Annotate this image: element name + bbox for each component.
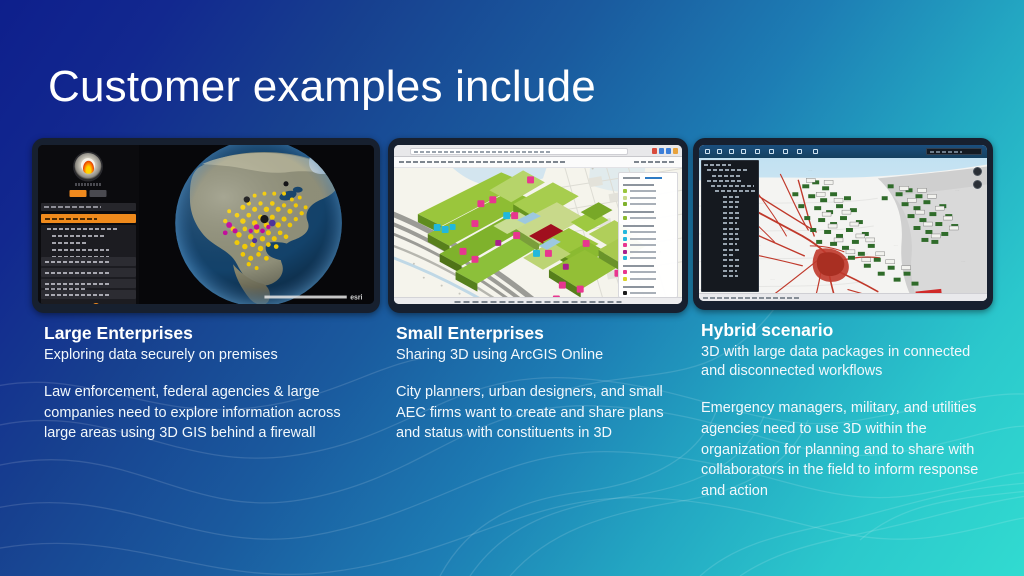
svg-text:esri: esri [350,294,362,301]
legend-item [623,202,673,206]
panel-section-list[interactable] [41,257,136,301]
globe-viewer-sidebar[interactable] [38,145,139,304]
search-input[interactable] [926,148,982,155]
legend-swatch [623,230,627,234]
layer-row[interactable] [52,242,88,244]
legend-item [623,270,673,274]
tree-layer-node[interactable] [712,175,741,177]
tab-layers[interactable] [623,177,640,179]
legend-item [623,230,673,234]
legend-swatch [623,196,627,200]
column-large-enterprises: esri Large Enterprises Exploring data se… [32,138,380,444]
tree-leaf-node[interactable] [723,206,738,208]
toggle-button-inactive[interactable] [90,190,107,197]
legend-item [623,291,673,295]
pointer-tool-icon[interactable] [705,149,710,154]
card-body: City planners, urban designers, and smal… [396,382,680,444]
measure-tool-icon[interactable] [717,149,722,154]
legend-swatch [623,250,627,254]
sidebar-toggle-buttons[interactable] [70,190,107,197]
slide-canvas: Customer examples include [0,0,1024,576]
map-zoom-control[interactable] [973,167,982,176]
legend-swatch [623,256,627,260]
tree-leaf-node[interactable] [723,201,740,203]
legend-section-heading [623,184,654,186]
tree-leaf-node[interactable] [723,228,740,230]
layer-tree-panel[interactable] [701,160,759,292]
card-body: Emergency managers, military, and utilit… [701,398,985,501]
tree-group-node[interactable] [707,180,741,182]
logo-caption [75,183,101,186]
tab-legend-active[interactable] [645,177,662,179]
svg-text:.....: ..... [955,187,959,191]
legend-tabs[interactable] [623,177,673,179]
browser-extension-icons[interactable] [652,148,678,154]
legend-item [623,256,673,260]
text-block-large-enterprises: Large Enterprises Exploring data securel… [32,313,380,444]
extension-icon[interactable] [673,148,678,154]
tree-leaf-node[interactable] [723,238,739,240]
legend-item [623,250,673,254]
tree-leaf-node[interactable] [723,275,738,277]
legend-label [630,292,656,294]
legend-section-heading [623,225,654,227]
legend-swatch [623,237,627,241]
tree-layer-node[interactable] [711,185,754,187]
extension-icon[interactable] [659,148,664,154]
legend-label [630,238,656,240]
map-compass-control[interactable] [973,180,982,189]
tree-leaf-node[interactable] [723,222,737,224]
legend-swatch [623,270,627,274]
tree-leaf-node[interactable] [723,270,737,272]
legend-section-heading [623,286,654,288]
pencil-tool-icon[interactable] [729,149,734,154]
layer-row[interactable] [52,249,109,251]
toggle-button-active[interactable] [70,190,87,197]
card-title: Large Enterprises [44,323,372,343]
text-block-small-enterprises: Small Enterprises Sharing 3D using ArcGI… [388,313,688,444]
legend-label [630,217,656,219]
flame-emblem-icon [75,153,102,180]
card-title: Hybrid scenario [701,320,985,340]
layers-icon[interactable] [769,149,774,154]
browser-address-bar[interactable] [410,148,628,155]
dark-globe-viewer-screenshot[interactable]: esri [38,145,374,304]
column-hybrid-scenario: .......... .......... .......... .......… [693,138,993,501]
tree-leaf-node[interactable] [723,249,741,251]
layer-row[interactable] [52,235,106,237]
svg-text:.....: ..... [771,277,775,281]
svg-text:.....: ..... [961,259,965,263]
legend-section-heading [623,211,654,213]
status-bar [699,293,987,301]
table-icon[interactable] [813,149,818,154]
legend-item [623,196,673,200]
legend-item [623,216,673,220]
save-icon[interactable] [755,149,760,154]
legend-label [630,203,656,205]
tree-leaf-node[interactable] [723,254,735,256]
legend-label [630,197,656,199]
page-title: Customer examples include [48,62,596,112]
legend-label [630,244,656,246]
legend-item [623,277,673,281]
browser-3d-city-map-screenshot[interactable] [394,145,682,304]
legend-item [623,237,673,241]
browser-chrome [394,145,682,157]
globe-viewport[interactable]: esri [139,145,374,304]
legend-swatch [623,291,627,295]
card-subtitle: 3D with large data packages in connected… [701,343,985,381]
tree-leaf-node[interactable] [723,212,741,214]
card-body: Law enforcement, federal agencies & larg… [44,382,372,444]
screenshot-frame-small-enterprises [388,138,688,313]
tree-leaf-node[interactable] [723,196,739,198]
tree-layer-node[interactable] [715,190,756,192]
tree-leaf-node[interactable] [723,259,739,261]
text-block-hybrid-scenario: Hybrid scenario 3D with large data packa… [693,310,993,501]
legend-swatch [623,243,627,247]
layer-group-row[interactable] [47,228,118,230]
legend-swatch [623,216,627,220]
tree-root-node[interactable] [704,164,731,166]
screenshot-frame-large-enterprises: esri [32,138,380,313]
desktop-gis-network-map-screenshot[interactable]: .......... .......... .......... .......… [699,145,987,301]
legend-swatch [623,277,627,281]
legend-label [630,257,656,259]
legend-label [630,190,656,192]
tree-leaf-node[interactable] [723,233,738,235]
tree-leaf-node[interactable] [723,265,740,267]
panel-section-row[interactable] [41,290,136,299]
tree-leaf-node[interactable] [723,243,737,245]
map-legend-panel[interactable] [618,172,678,298]
panel-section-row[interactable] [41,279,136,288]
legend-label [630,251,656,253]
svg-text:.....: ..... [894,243,898,247]
brush-tool-icon[interactable] [741,149,746,154]
tree-group-node[interactable] [707,169,748,171]
card-subtitle: Sharing 3D using ArcGIS Online [396,346,680,365]
screenshot-frame-hybrid-scenario: .......... .......... .......... .......… [693,138,993,310]
extension-icon[interactable] [652,148,657,154]
legend-item [623,243,673,247]
legend-label [630,231,656,233]
legend-label [630,271,656,273]
status-bar [394,297,682,304]
legend-swatch [623,202,627,206]
extension-icon[interactable] [666,148,671,154]
gis-ribbon-toolbar[interactable] [699,145,987,158]
panel-section-row[interactable] [41,268,136,277]
card-subtitle: Exploring data securely on premises [44,346,372,365]
legend-swatch [623,189,627,193]
legend-section-heading [623,265,654,267]
legend-label [630,278,656,280]
settings-gear-icon[interactable] [783,149,788,154]
legend-item [623,189,673,193]
card-title: Small Enterprises [396,323,680,343]
globe-icon[interactable] [797,149,802,154]
column-small-enterprises: Small Enterprises Sharing 3D using ArcGI… [388,138,688,444]
panel-header [41,203,136,211]
panel-section-row[interactable] [41,257,136,266]
tree-leaf-node[interactable] [723,217,739,219]
svg-text:.....: ..... [808,167,812,171]
panel-active-layer-row[interactable] [41,214,136,223]
app-toolbar[interactable] [394,157,682,168]
